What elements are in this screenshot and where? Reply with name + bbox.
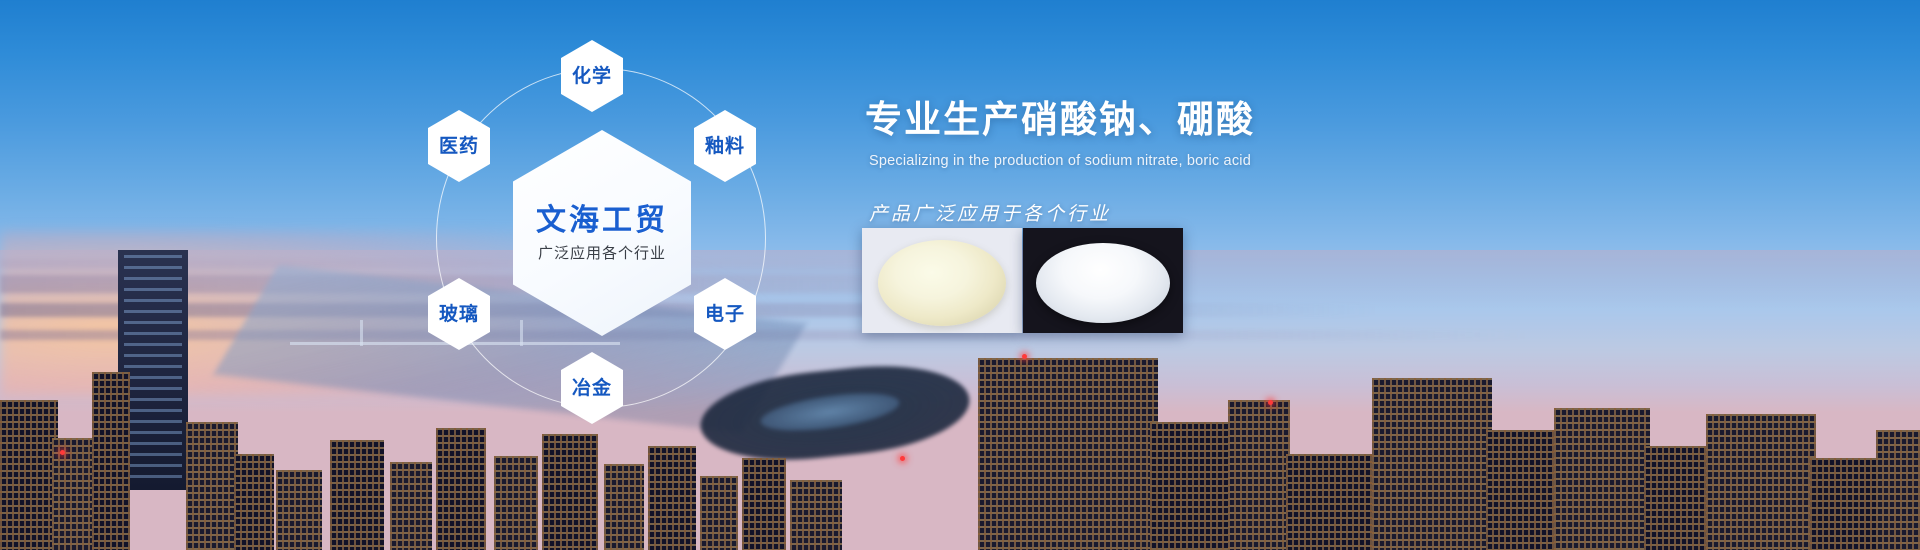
building <box>52 438 96 550</box>
banner-subheadline: Specializing in the production of sodium… <box>869 153 1485 169</box>
building <box>276 470 322 550</box>
hexagon-label-metallurgy: 冶金 <box>572 379 612 398</box>
building <box>648 446 696 550</box>
banner-headline: 专业生产硝酸钠、硼酸 <box>865 100 1485 141</box>
industry-hexagon-diagram: 化学 釉料 电子 冶金 玻璃 医药 文海工贸 广泛应用各个行业 <box>392 18 812 448</box>
building <box>494 456 538 550</box>
product-photo-boric-acid <box>1023 228 1183 333</box>
building <box>790 480 842 550</box>
building <box>0 400 58 550</box>
building-highrise <box>1372 378 1492 550</box>
company-slogan: 广泛应用各个行业 <box>538 246 666 261</box>
building <box>542 434 598 550</box>
banner-copy: 专业生产硝酸钠、硼酸 Specializing in the productio… <box>865 100 1485 226</box>
powder-pile-cream <box>878 240 1006 326</box>
hexagon-label-medicine: 医药 <box>439 137 479 156</box>
building <box>92 372 130 550</box>
promotional-banner: 化学 釉料 电子 冶金 玻璃 医药 文海工贸 广泛应用各个行业 专业生产硝酸钠、… <box>0 0 1920 550</box>
building <box>700 476 738 550</box>
building <box>330 440 384 550</box>
hexagon-label-glass: 玻璃 <box>439 305 479 324</box>
building-highrise <box>978 358 1158 550</box>
antenna-light <box>60 450 65 455</box>
building <box>1286 454 1378 550</box>
hexagon-label-electronics: 电子 <box>705 305 745 324</box>
building <box>742 458 786 550</box>
building <box>1228 400 1290 550</box>
hexagon-label-glaze: 釉料 <box>705 137 745 156</box>
antenna-light <box>1022 354 1027 359</box>
building <box>604 464 644 550</box>
building <box>186 422 238 550</box>
building <box>1150 422 1234 550</box>
company-name: 文海工贸 <box>536 206 668 236</box>
building <box>1706 414 1816 550</box>
banner-tagline: 产品广泛应用于各个行业 <box>869 199 1485 226</box>
building <box>1876 430 1920 550</box>
building <box>1486 430 1560 550</box>
antenna-light <box>1268 400 1273 405</box>
product-photo-sodium-nitrate <box>862 228 1022 333</box>
powder-pile-white <box>1036 243 1170 323</box>
building <box>390 462 432 550</box>
building <box>1644 446 1712 550</box>
building <box>1554 408 1650 550</box>
building <box>1810 458 1884 550</box>
antenna-light <box>900 456 905 461</box>
hexagon-label-chemistry: 化学 <box>572 67 612 86</box>
building <box>234 454 274 550</box>
